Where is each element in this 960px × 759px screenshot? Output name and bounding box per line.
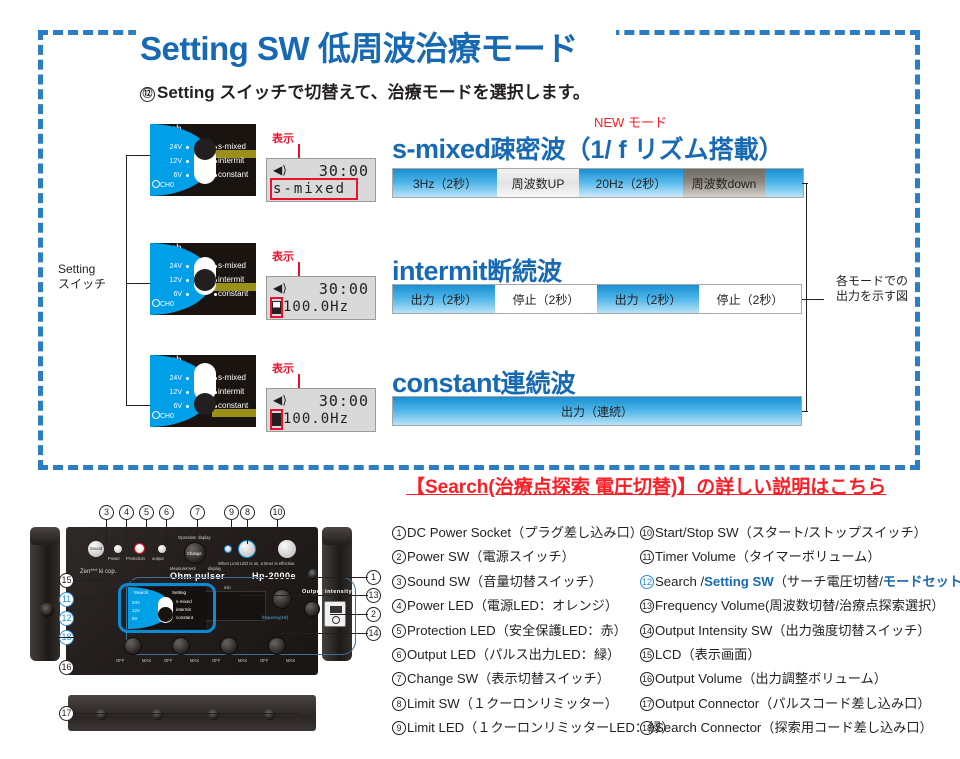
panel-dot-6v (186, 174, 189, 177)
output-diagram-note: 各モードでの 出力を示す図 (836, 274, 908, 304)
sound-sw-label: Sound (90, 546, 102, 551)
panel-voltage-6v: 6V (164, 291, 182, 298)
legend-column-right: 10Start/Stop SW（スタート/ストップスイッチ） 11Timer V… (640, 521, 960, 741)
mode-bracket-bottom (802, 411, 808, 412)
legend-text-highlight-2: モードセット (883, 574, 960, 589)
lcd-screen: ◀⟩ 30:00 s-mixed (266, 158, 376, 202)
mini-voltage-24v: 24V (132, 600, 140, 605)
battery-icon (272, 413, 281, 426)
output-connector-port-1[interactable] (96, 709, 107, 720)
mini-search-label: Search (134, 590, 148, 595)
panel-dot-6v (186, 405, 189, 408)
mode-bracket-mid (802, 299, 824, 300)
mode-bracket-top (802, 183, 808, 184)
device-body: Sound Power Protection output Operation … (66, 527, 318, 675)
panel-option-intermit: intermit (218, 387, 244, 396)
callout-15-lead (74, 580, 172, 581)
subtitle-number: ⑫ (140, 87, 155, 102)
operation-display-label: Operation display (178, 535, 211, 540)
output-led (158, 545, 166, 553)
setting-switch-leader-h1 (126, 155, 150, 156)
callout-2-lead (330, 614, 368, 615)
panel-voltage-24v: 24V (164, 263, 182, 270)
callout-16: 16 (59, 660, 74, 675)
setting-switch-annotation-line1: Setting (58, 262, 106, 277)
output-diagram-note-line2: 出力を示す図 (836, 289, 908, 304)
volume-max-label-4: MAX (286, 658, 295, 663)
waveform-segment: 停止（2秒） (699, 285, 801, 313)
mode-name-jp: 連続波 (501, 370, 576, 398)
legend-text: DC Power Socket（プラグ差し込み口） (407, 525, 643, 540)
callout-5: 5 (139, 505, 154, 520)
panel-ch-circle (152, 411, 160, 419)
lcd-min-label: min (224, 585, 231, 590)
subtitle-text: Setting スイッチで切替えて、治療モードを選択します。 (157, 83, 590, 102)
panel-voltage-24v: 24V (164, 144, 182, 151)
search-detail-link[interactable]: 【Search(治療点探索 電圧切替)】の詳しい説明はこちら (406, 472, 886, 499)
mini-switch-knob-head[interactable] (158, 607, 173, 622)
legend-number: 12 (640, 575, 654, 589)
panel-voltage-6v: 6V (164, 403, 182, 410)
callout-11: 11 (59, 592, 74, 607)
mode-name-jp: 疎密波（1/ f リズム搭載） (491, 136, 784, 164)
callout-18-lead (44, 637, 74, 638)
callout-8: 8 (240, 505, 255, 520)
legend-text: Timer Volume（タイマーボリューム） (655, 549, 881, 564)
callout-5-lead (146, 520, 147, 542)
callout-8-lead (247, 520, 248, 544)
callout-14: 14 (366, 626, 381, 641)
callout-13-lead (240, 595, 368, 596)
callout-12: 12 (59, 611, 74, 626)
panel-dot-12v (186, 391, 189, 394)
legend-column-left: 1DC Power Socket（プラグ差し込み口） 2Power SW（電源ス… (392, 521, 674, 741)
switch-panel-constant: Search Setting 24V 12V 6V s-mixed interm… (150, 355, 256, 427)
volume-off-label-2: OFF (164, 658, 172, 663)
waveform-segment: 周波数down (683, 169, 765, 197)
legend-item: 11Timer Volume（タイマーボリューム） (640, 545, 960, 569)
callout-6-lead (166, 520, 167, 544)
waveform-segment: 停止（2秒） (495, 285, 597, 313)
setting-switch-leader-v (126, 155, 127, 405)
legend-text: Output Volume（出力調整ボリューム） (655, 671, 887, 686)
panel-option-intermit: intermit (218, 156, 244, 165)
volume-max-label-3: MAX (238, 658, 247, 663)
legend-text: Start/Stop SW（スタート/ストップスイッチ） (655, 525, 927, 540)
callout-3: 3 (99, 505, 114, 520)
lcd-timer-value: 30:00 (319, 280, 369, 298)
panel-dot-6v (186, 293, 189, 296)
output-connector-port-4[interactable] (264, 709, 275, 720)
callout-15: 15 (59, 573, 74, 588)
legend-text: Power SW（電源スイッチ） (407, 549, 575, 564)
display-label-3: 表示 (272, 360, 294, 376)
panel-highlight-bar (212, 409, 256, 417)
panel-ch-label: CH0 (160, 182, 174, 189)
mode-heading-intermit: intermit断続波 (392, 252, 562, 288)
legend-item: 9Limit LED（１クーロンリミッターLED：緑） (392, 716, 674, 740)
mini-option-constant: constant (176, 615, 193, 620)
change-sw-label: Change (187, 551, 202, 556)
mini-setting-label: Setting (172, 590, 186, 595)
legend-item: 8Limit SW（１クーロンリミッター） (392, 692, 674, 716)
legend-item: 13Frequency Volume(周波数切替/治療点探索選択） (640, 594, 960, 618)
subtitle: ⑫Setting スイッチで切替えて、治療モードを選択します。 (140, 78, 780, 103)
legend-item-search-setting: 12Search /Setting SW（サーチ電圧切替/モードセット） (640, 570, 960, 594)
speaker-icon: ◀⟩ (273, 164, 287, 176)
callout-9-lead (231, 520, 232, 542)
legend-item: 5Protection LED（安全保護LED：赤） (392, 619, 674, 643)
display-label-1: 表示 (272, 130, 294, 146)
mode-heading-constant: constant連続波 (392, 364, 576, 400)
volume-off-label-1: OFF (116, 658, 124, 663)
waveform-segment: 出力（2秒） (393, 285, 495, 313)
device-cap-left (30, 527, 60, 545)
legend-number: 3 (392, 575, 406, 589)
callout-16-lead (74, 667, 104, 668)
setting-switch-leader-h (126, 283, 150, 284)
panel-dot-24v (186, 146, 189, 149)
switch-panel-s-mixed: Search Setting 24V 12V 6V s-mixed interm… (150, 124, 256, 196)
legend-text: Output Intensity SW（出力強度切替スイッチ） (655, 623, 931, 638)
mode-name-jp: 断続波 (487, 258, 562, 286)
setting-switch-annotation-line2: スイッチ (58, 277, 106, 292)
lcd-timer-value: 30:00 (319, 162, 369, 180)
callout-17-lead (74, 713, 300, 714)
panel-knob-head[interactable] (194, 393, 216, 415)
legend-text: Protection LED（安全保護LED：赤） (407, 623, 627, 638)
output-volume-knob-3[interactable] (220, 637, 238, 655)
setting-switch-annotation: Setting スイッチ (58, 262, 106, 292)
legend-number: 13 (640, 599, 654, 613)
mini-option-s-mixed: s-mixed (176, 599, 192, 604)
new-mode-badge: NEW モード (594, 112, 667, 131)
panel-voltage-12v: 12V (164, 158, 182, 165)
waveform-segment: 20Hz（2秒） (579, 169, 683, 197)
callout-4: 4 (119, 505, 134, 520)
waveform-segment (765, 169, 803, 197)
legend-number: 14 (640, 624, 654, 638)
waveform-segment: 出力（2秒） (597, 285, 699, 313)
panel-option-s-mixed: s-mixed (218, 142, 246, 151)
panel-dot-24v (186, 265, 189, 268)
mode-name-en: constant (392, 368, 501, 398)
panel-dot-12v (186, 279, 189, 282)
waveform-bar-constant: 出力（連続） (392, 396, 802, 426)
power-sw-bottom (332, 616, 340, 624)
callout-2: 2 (366, 607, 381, 622)
panel-option-s-mixed: s-mixed (218, 261, 246, 270)
panel-voltage-12v: 12V (164, 389, 182, 396)
callout-1-lead (262, 577, 368, 578)
callout-7: 7 (190, 505, 205, 520)
lcd-frequency-value: 100.0Hz (283, 411, 349, 427)
waveform-segment: 出力（連続） (393, 397, 801, 425)
callout-7-lead (197, 520, 198, 544)
legend-text: Change SW（表示切替スイッチ） (407, 671, 610, 686)
legend-number: 5 (392, 624, 406, 638)
mode-heading-s-mixed: s-mixed疎密波（1/ f リズム搭載） (392, 130, 784, 166)
power-led (114, 545, 122, 553)
protection-led-label: Protection (126, 556, 145, 561)
limit-led (224, 545, 232, 553)
legend-item: 3Sound SW（音量切替スイッチ） (392, 570, 674, 594)
setting-switch-leader-h3 (126, 405, 150, 406)
callout-3-lead (106, 520, 107, 542)
search-connector[interactable] (40, 603, 54, 617)
device-side-left (30, 533, 60, 661)
legend-item: 4Power LED（電源LED：オレンジ） (392, 594, 674, 618)
lcd-readout-intermit: ◀⟩ 30:00 100.0Hz (266, 276, 376, 320)
callout-11-lead (74, 599, 110, 600)
output-diagram-note-line1: 各モードでの (836, 274, 908, 289)
mini-voltage-12v: 12V (132, 608, 140, 613)
legend-text: Output LED（パルス出力LED：緑） (407, 647, 620, 662)
volume-off-label-3: OFF (212, 658, 220, 663)
panel-ch-label: CH0 (160, 413, 174, 420)
legend-number: 6 (392, 648, 406, 662)
battery-icon (272, 301, 281, 314)
legend-item: 15LCD（表示画面） (640, 643, 960, 667)
panel-ch-circle (152, 299, 160, 307)
legend-item: 2Power SW（電源スイッチ） (392, 545, 674, 569)
waveform-bar-s-mixed: 3Hz（2秒） 周波数UP 20Hz（2秒） 周波数down (392, 168, 804, 198)
mode-name-en: s-mixed (392, 134, 491, 164)
panel-option-constant: constant (218, 289, 248, 298)
panel-option-s-mixed: s-mixed (218, 373, 246, 382)
limit-note: When Limit LED is on, a timer is effecti… (218, 561, 295, 566)
waveform-segment: 周波数UP (497, 169, 579, 197)
legend-item: 18Search Connector（探索用コード差し込み口） (640, 716, 960, 740)
legend-text: Limit LED（１クーロンリミッターLED：緑） (407, 720, 674, 735)
legend-number: 2 (392, 550, 406, 564)
callout-9: 9 (224, 505, 239, 520)
legend-number: 9 (392, 721, 406, 735)
lcd-screen: ◀⟩ 30:00 100.0Hz (266, 276, 376, 320)
speaker-icon: ◀⟩ (273, 394, 287, 406)
power-sw-top (330, 606, 342, 613)
device-cap-right (322, 527, 352, 545)
legend-text: Power LED（電源LED：オレンジ） (407, 598, 618, 613)
legend-item: 6Output LED（パルス出力LED：緑） (392, 643, 674, 667)
lcd-readout-s-mixed: ◀⟩ 30:00 s-mixed (266, 158, 376, 202)
legend-item: 10Start/Stop SW（スタート/ストップスイッチ） (640, 521, 960, 545)
output-volume-knob-4[interactable] (268, 637, 286, 655)
brand-label: Zen*** ki cop. (80, 569, 116, 575)
display-label-2: 表示 (272, 248, 294, 264)
legend-text-2: （サーチ電圧切替/ (774, 574, 883, 589)
legend-number: 1 (392, 526, 406, 540)
power-led-label: Power (108, 556, 120, 561)
lcd-screen: ◀⟩ 30:00 100.0Hz (266, 388, 376, 432)
legend-number: 16 (640, 672, 654, 686)
legend-text: Output Connector（パルスコード差し込み口） (655, 696, 931, 711)
lcd-mode-value: s-mixed (273, 181, 346, 197)
switch-panel-intermit: Search Setting 24V 12V 6V s-mixed interm… (150, 243, 256, 315)
lcd-timer-value: 30:00 (319, 392, 369, 410)
panel-option-constant: constant (218, 170, 248, 179)
panel-voltage-6v: 6V (164, 172, 182, 179)
callout-6: 6 (159, 505, 174, 520)
protection-led (134, 543, 145, 554)
legend-text: Sound SW（音量切替スイッチ） (407, 574, 602, 589)
legend-text: Frequency Volume(周波数切替/治療点探索選択） (655, 598, 944, 613)
legend-item: 14Output Intensity SW（出力強度切替スイッチ） (640, 619, 960, 643)
mode-bracket-vertical (806, 183, 807, 411)
legend-number: 4 (392, 599, 406, 613)
speaker-icon: ◀⟩ (273, 282, 287, 294)
legend-item: 17Output Connector（パルスコード差し込み口） (640, 692, 960, 716)
legend-text: Search / (655, 574, 704, 589)
legend-number: 17 (640, 697, 654, 711)
panel-ch-circle (152, 180, 160, 188)
callout-13: 13 (366, 588, 381, 603)
legend-text-highlight: Setting SW (704, 574, 774, 589)
volume-max-label-1: MAX (142, 658, 151, 663)
output-intensity-knob[interactable] (304, 601, 320, 617)
panel-dot-24v (186, 377, 189, 380)
mini-option-intermit: intermit (176, 607, 191, 612)
volume-off-label-4: OFF (260, 658, 268, 663)
callout-10-lead (277, 520, 278, 544)
legend-text: Limit SW（１クーロンリミッター） (407, 696, 618, 711)
legend-number: 11 (640, 550, 654, 564)
legend-number: 18 (640, 721, 654, 735)
panel-option-constant: constant (218, 401, 248, 410)
panel-knob-head[interactable] (194, 269, 216, 291)
output-connector-port-3[interactable] (208, 709, 219, 720)
frequency-label: frequency(Hz) (262, 615, 288, 620)
legend-item: 7Change SW（表示切替スイッチ） (392, 667, 674, 691)
legend-item: 16Output Volume（出力調整ボリューム） (640, 667, 960, 691)
lcd-frequency-value: 100.0Hz (283, 299, 349, 315)
panel-voltage-24v: 24V (164, 375, 182, 382)
panel-ch-label: CH0 (160, 301, 174, 308)
output-volume-knob-1[interactable] (124, 637, 142, 655)
legend-number: 7 (392, 672, 406, 686)
legend-number: 10 (640, 526, 654, 540)
start-stop-sw-button[interactable] (278, 540, 296, 558)
output-led-label: output (152, 556, 164, 561)
panel-dot-12v (186, 160, 189, 163)
panel-knob-head[interactable] (194, 138, 216, 160)
legend-text: LCD（表示画面） (655, 647, 761, 662)
legend-number: 15 (640, 648, 654, 662)
mini-voltage-6v: 6V (132, 616, 138, 621)
lcd-readout-constant: ◀⟩ 30:00 100.0Hz (266, 388, 376, 432)
mode-name-en: intermit (392, 256, 487, 286)
frequency-volume-knob[interactable] (272, 589, 292, 609)
waveform-bar-intermit: 出力（2秒） 停止（2秒） 出力（2秒） 停止（2秒） (392, 284, 802, 314)
callout-1: 1 (366, 570, 381, 585)
legend-number: 8 (392, 697, 406, 711)
output-connector-port-2[interactable] (152, 709, 163, 720)
callout-14-lead (278, 633, 368, 634)
legend-text: Search Connector（探索用コード差し込み口） (655, 720, 933, 735)
legend-item: 1DC Power Socket（プラグ差し込み口） (392, 521, 674, 545)
callout-17: 17 (59, 706, 74, 721)
volume-max-label-2: MAX (190, 658, 199, 663)
page-title: Setting SW 低周波治療モード (136, 27, 616, 71)
device-setting-switch[interactable]: Search Setting 24V 12V 6V s-mixed interm… (128, 587, 206, 629)
panel-dot-constant (214, 293, 217, 296)
callout-4-lead (126, 520, 127, 542)
panel-voltage-12v: 12V (164, 277, 182, 284)
output-volume-knob-2[interactable] (172, 637, 190, 655)
panel-option-intermit: intermit (218, 275, 244, 284)
callout-10: 10 (270, 505, 285, 520)
waveform-segment: 3Hz（2秒） (393, 169, 497, 197)
